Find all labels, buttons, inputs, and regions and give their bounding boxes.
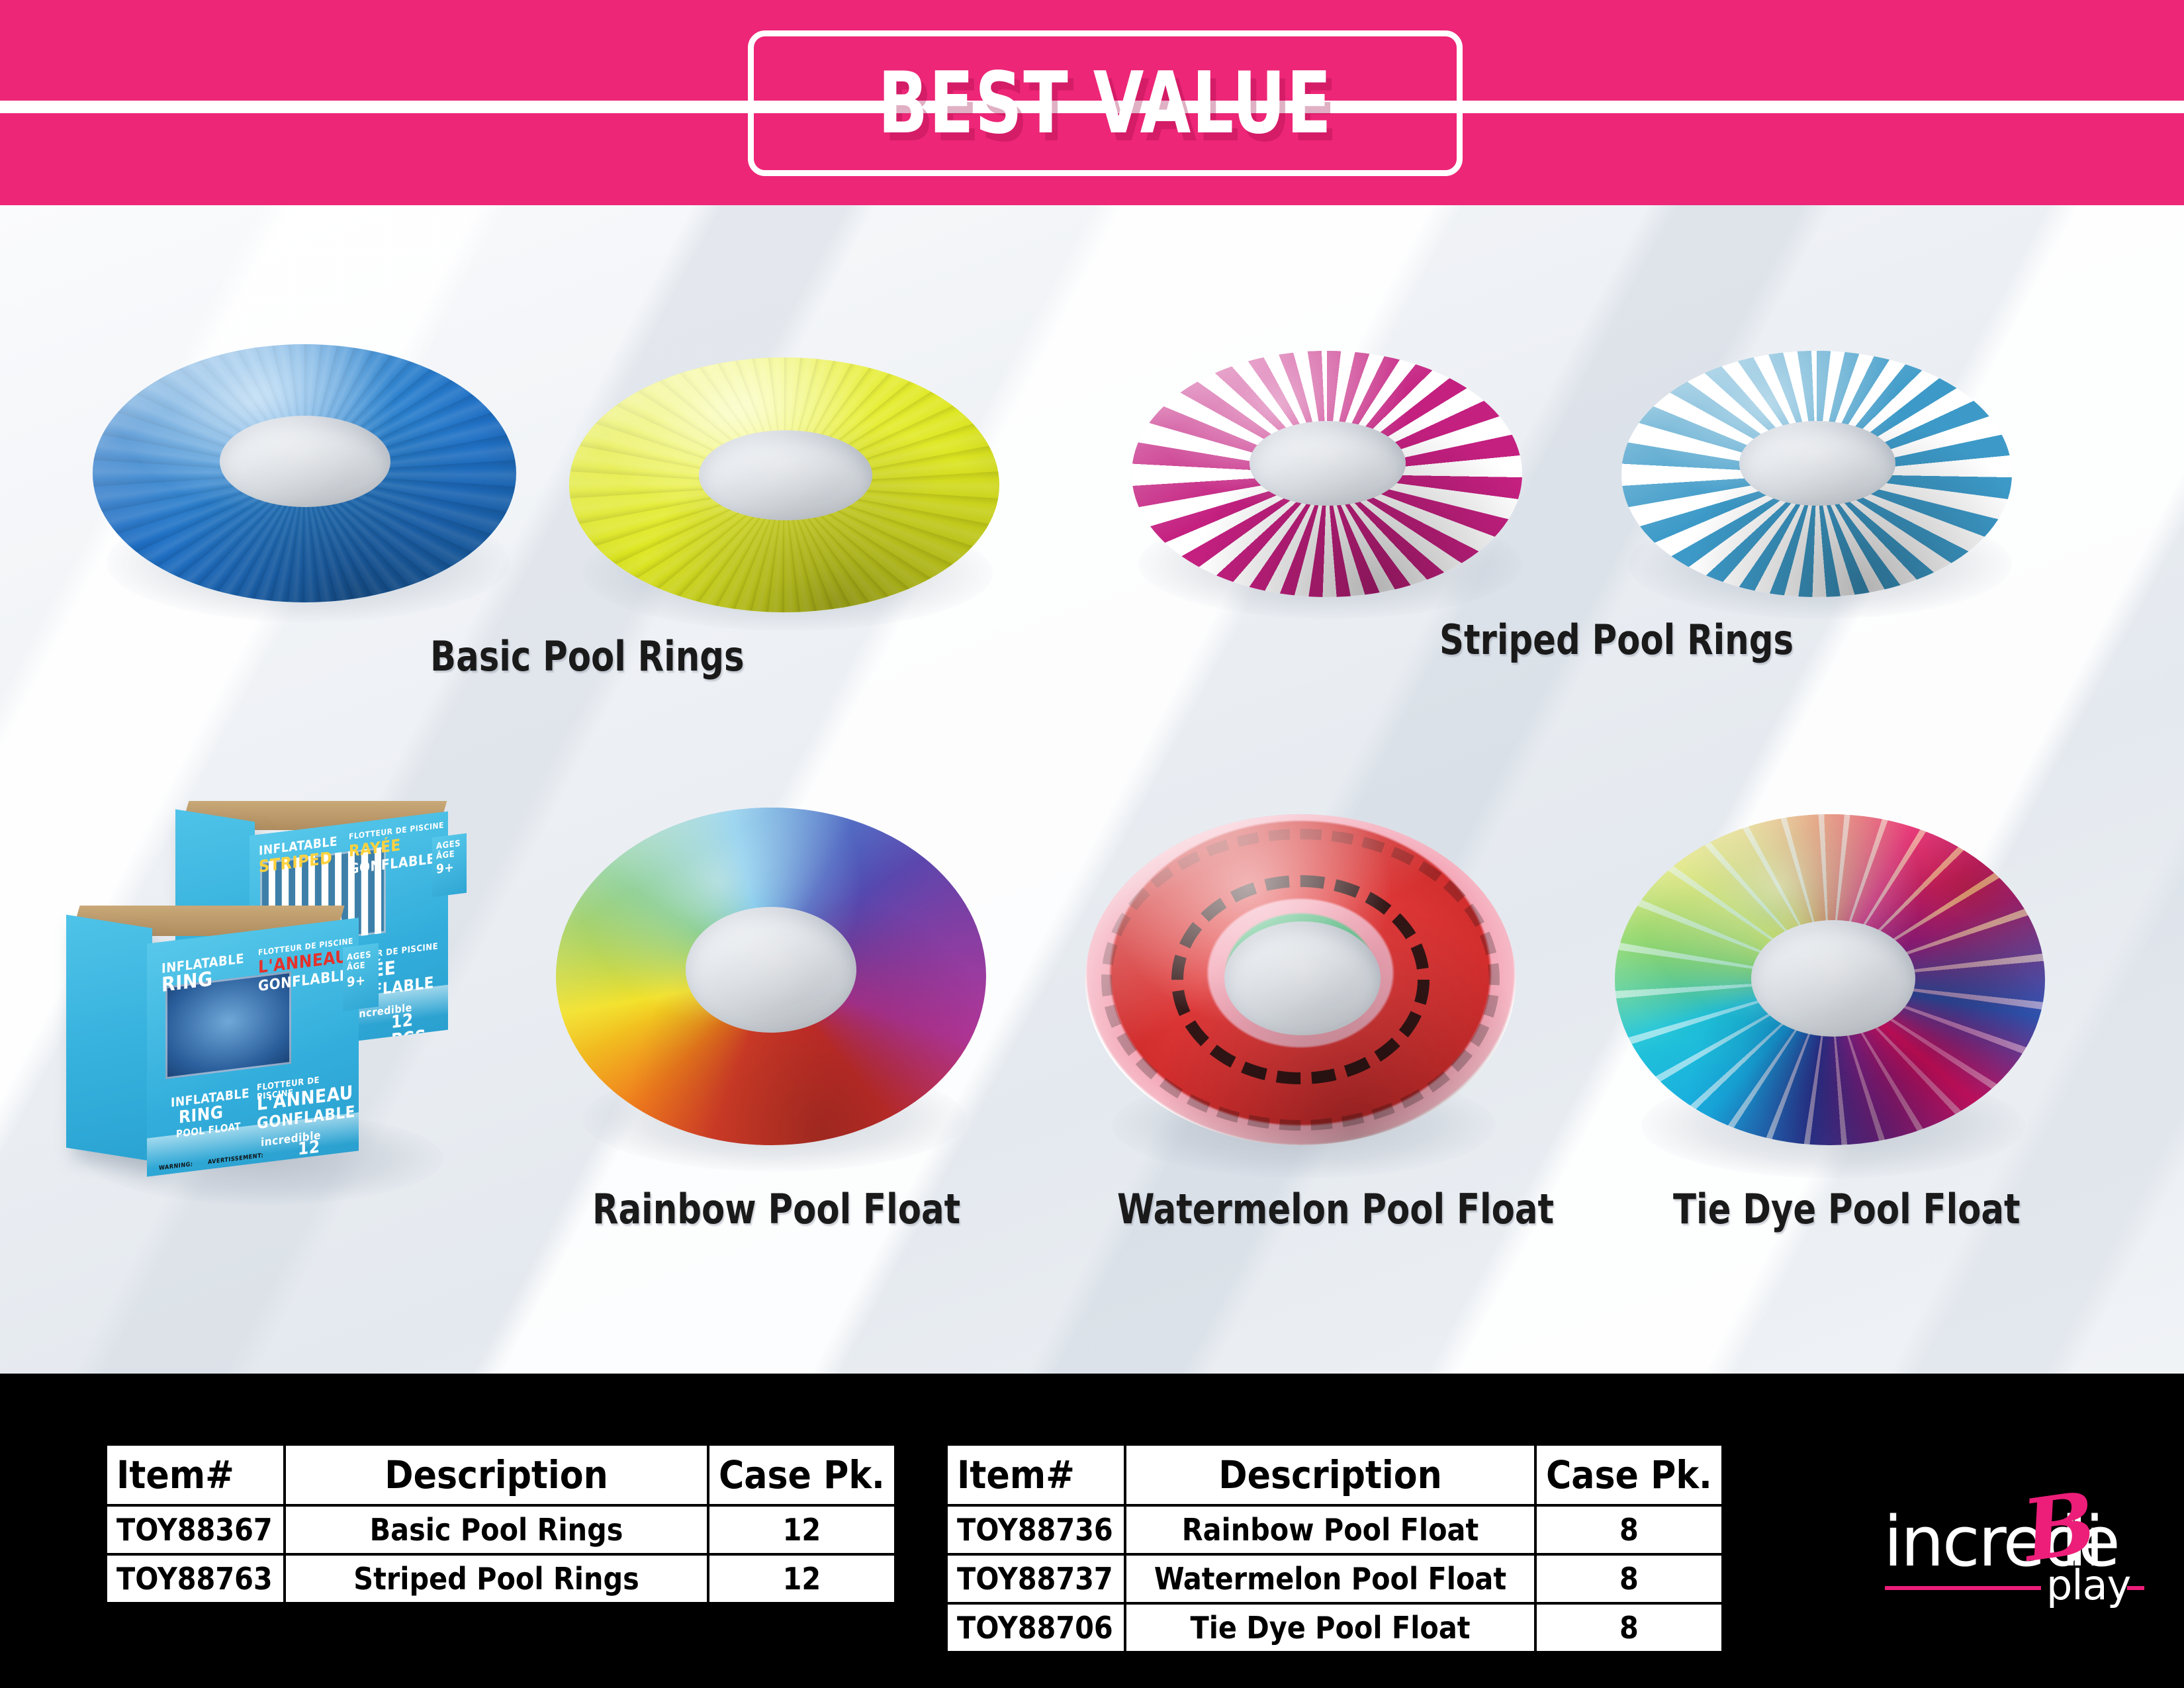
product-photo-striped-ring-pink: [1125, 344, 1535, 616]
box-age-tab: AGES ÂGE 9+: [432, 833, 467, 897]
ring-hole: [1224, 921, 1381, 1035]
inflatable-ring-tie-dye: [1615, 814, 2045, 1145]
inflatable-ring-pink-striped: [1132, 351, 1522, 597]
ring-hole: [220, 416, 390, 507]
product-table-left: Item# Description Case Pk. TOY88367 Basi…: [105, 1443, 897, 1605]
column-header-case-pack: Case Pk.: [708, 1444, 895, 1505]
logo-rule-left: [1885, 1586, 2041, 1590]
inflatable-ring-rainbow: [556, 808, 986, 1145]
ring-hole: [686, 907, 856, 1033]
brand-logo: incredi le B play: [1884, 1489, 2148, 1615]
product-photo-striped-ring-blue: [1615, 344, 2025, 616]
column-header-description: Description: [1125, 1444, 1535, 1505]
box-front-panel: INFLATABLE RING FLOTTEUR DE PISCINE L'AN…: [147, 917, 359, 1176]
inflatable-ring-blue-striped: [1621, 351, 2012, 597]
table-row: TOY88737 Watermelon Pool Float 8: [946, 1554, 1723, 1603]
cell-description: Striped Pool Rings: [285, 1554, 708, 1603]
cell-case-pack: 8: [1535, 1554, 1723, 1603]
cell-case-pack: 8: [1535, 1505, 1723, 1554]
box-age-tab: AGES ÂGE 9+: [343, 943, 379, 1011]
product-photo-watermelon-float: [1072, 808, 1535, 1178]
packaging-box-front: INFLATABLE RING FLOTTEUR DE PISCINE L'AN…: [66, 906, 364, 1190]
product-photo-basic-ring-blue: [86, 338, 523, 616]
product-label-striped-pool-rings: Striped Pool Rings: [1439, 616, 1794, 664]
box-side: [66, 915, 152, 1162]
product-label-basic-pool-rings: Basic Pool Rings: [430, 632, 745, 680]
column-header-description: Description: [285, 1444, 708, 1505]
box-ages-value: 9+: [436, 861, 454, 876]
cell-description: Tie Dye Pool Float: [1125, 1603, 1535, 1652]
cell-item-number: TOY88737: [946, 1554, 1125, 1603]
ring-hole: [1751, 920, 1915, 1037]
table-header-row: Item# Description Case Pk.: [946, 1444, 1723, 1505]
table-row: TOY88736 Rainbow Pool Float 8: [946, 1505, 1723, 1554]
inflatable-ring-yellow: [569, 357, 999, 612]
cell-item-number: TOY88736: [946, 1505, 1125, 1554]
ring-hole: [1250, 421, 1406, 506]
product-photo-tie-dye-float: [1602, 808, 2065, 1178]
product-photo-rainbow-float: [543, 801, 1006, 1172]
inflatable-ring-blue: [93, 344, 516, 602]
cell-description: Rainbow Pool Float: [1125, 1505, 1535, 1554]
product-photo-packaging-boxes: INFLATABLE STRIPED FLOTTEUR DE PISCINE R…: [60, 801, 483, 1211]
cell-description: Watermelon Pool Float: [1125, 1554, 1535, 1603]
table-header-row: Item# Description Case Pk.: [106, 1444, 895, 1505]
banner-title: BEST VALUE: [798, 30, 1413, 176]
cell-item-number: TOY88367: [106, 1505, 285, 1554]
product-photo-basic-ring-yellow: [563, 351, 1013, 629]
box-ages-value: 9+: [347, 973, 366, 990]
cell-description: Basic Pool Rings: [285, 1505, 708, 1554]
product-label-tie-dye-pool-float: Tie Dye Pool Float: [1673, 1185, 2021, 1233]
cell-case-pack: 8: [1535, 1603, 1723, 1652]
product-label-rainbow-pool-float: Rainbow Pool Float: [592, 1185, 960, 1233]
ring-hole: [699, 430, 872, 520]
table-row: TOY88706 Tie Dye Pool Float 8: [946, 1603, 1723, 1652]
column-header-case-pack: Case Pk.: [1535, 1444, 1723, 1505]
table-row: TOY88763 Striped Pool Rings 12: [106, 1554, 895, 1603]
product-table-right: Item# Description Case Pk. TOY88736 Rain…: [945, 1443, 1724, 1654]
cell-case-pack: 12: [708, 1554, 895, 1603]
ring-hole: [1739, 421, 1895, 506]
column-header-item: Item#: [106, 1444, 285, 1505]
cell-item-number: TOY88706: [946, 1603, 1125, 1652]
inflatable-ring-watermelon: [1085, 814, 1516, 1145]
table-row: TOY88367 Basic Pool Rings 12: [106, 1505, 895, 1554]
column-header-item: Item#: [946, 1444, 1125, 1505]
logo-tagline: play: [2046, 1561, 2130, 1609]
box-ages-label-fr: ÂGE: [347, 961, 365, 972]
product-gallery: Basic Pool Rings Striped Pool Rings INFL…: [0, 205, 2184, 1374]
cell-item-number: TOY88763: [106, 1554, 285, 1603]
product-label-watermelon-pool-float: Watermelon Pool Float: [1117, 1185, 1554, 1233]
header-banner: BEST VALUE: [0, 0, 2184, 205]
cell-case-pack: 12: [708, 1505, 895, 1554]
